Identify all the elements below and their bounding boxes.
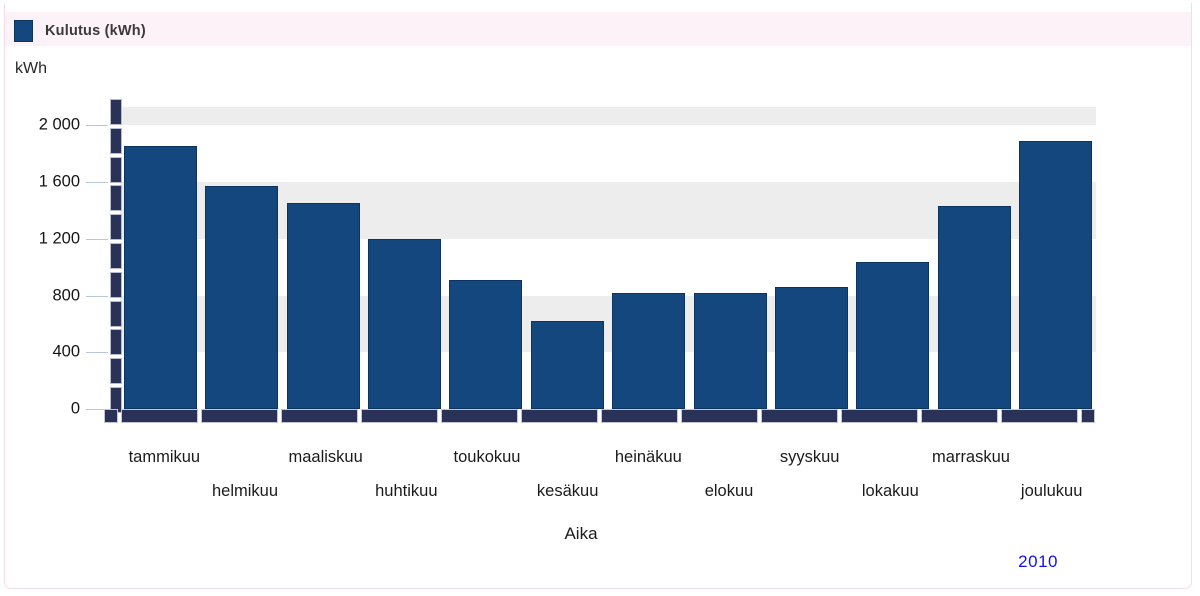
x-axis-segment: [681, 409, 758, 423]
x-axis-segment: [841, 409, 918, 423]
x-axis-label-elokuu: elokuu: [705, 482, 754, 501]
bar-huhtikuu[interactable]: [368, 239, 441, 409]
x-axis-segment: [1001, 409, 1078, 423]
bar-tammikuu[interactable]: [124, 146, 197, 409]
bar-slot[interactable]: [1019, 107, 1092, 409]
x-axis-label-helmikuu: helmikuu: [212, 482, 278, 501]
bar-marraskuu[interactable]: [938, 206, 1011, 409]
bar-elokuu[interactable]: [694, 293, 767, 409]
bar-slot[interactable]: [205, 107, 278, 409]
x-axis-label-tammikuu: tammikuu: [129, 448, 201, 467]
y-axis-tick-label: 2 000: [0, 116, 80, 135]
bar-slot[interactable]: [124, 107, 197, 409]
bar-joulukuu[interactable]: [1019, 141, 1092, 409]
y-axis-segment: [110, 99, 122, 125]
y-axis-tick-label: 0: [0, 400, 80, 419]
bar-helmikuu[interactable]: [205, 186, 278, 409]
x-axis-segment: [361, 409, 438, 423]
x-axis-line: [104, 409, 1126, 423]
bar-slot[interactable]: [612, 107, 685, 409]
y-axis-segment: [110, 358, 122, 384]
x-axis-label-lokakuu: lokakuu: [862, 482, 919, 501]
bar-kesäkuu[interactable]: [531, 321, 604, 409]
bar-slot[interactable]: [856, 107, 929, 409]
y-axis-tick-mark: [86, 125, 108, 126]
bar-slot[interactable]: [938, 107, 1011, 409]
x-axis-label-syyskuu: syyskuu: [780, 448, 840, 467]
bar-slot[interactable]: [694, 107, 767, 409]
bar-maaliskuu[interactable]: [287, 203, 360, 409]
x-axis-title-text: Aika: [564, 524, 597, 543]
y-axis-segment: [110, 272, 122, 298]
bar-slot[interactable]: [449, 107, 522, 409]
x-axis-segment: [521, 409, 598, 423]
bar-toukokuu[interactable]: [449, 280, 522, 409]
bar-series: [120, 107, 1096, 409]
y-axis-tick-label: 400: [0, 343, 80, 362]
bar-syyskuu[interactable]: [775, 287, 848, 409]
y-axis-segment: [110, 214, 122, 240]
y-axis-tick-mark: [86, 296, 108, 297]
y-axis-tick-mark: [86, 182, 108, 183]
plot-area: [120, 107, 1096, 409]
y-axis-tick-label: 1 600: [0, 173, 80, 192]
y-axis-tick-labels: 04008001 2001 6002 000: [0, 0, 80, 586]
y-axis-tick-label: 800: [0, 286, 80, 305]
bar-slot[interactable]: [287, 107, 360, 409]
bar-heinäkuu[interactable]: [612, 293, 685, 409]
x-axis-label-heinäkuu: heinäkuu: [615, 448, 682, 467]
x-axis-label-kesäkuu: kesäkuu: [537, 482, 598, 501]
year-stamp: 2010: [1018, 552, 1058, 572]
bar-slot[interactable]: [368, 107, 441, 409]
x-axis-label-huhtikuu: huhtikuu: [375, 482, 437, 501]
y-axis-tick-mark: [86, 239, 108, 240]
x-axis-segment: [201, 409, 278, 423]
x-axis-segment: [441, 409, 518, 423]
x-axis-label-toukokuu: toukokuu: [454, 448, 521, 467]
y-axis-line: [110, 99, 122, 413]
y-axis-segment: [110, 301, 122, 327]
y-axis-segment: [110, 157, 122, 183]
x-axis-label-marraskuu: marraskuu: [932, 448, 1010, 467]
x-axis-segment: [601, 409, 678, 423]
y-axis-tick-mark: [86, 409, 108, 410]
x-axis-segment: [921, 409, 998, 423]
x-axis-label-joulukuu: joulukuu: [1021, 482, 1082, 501]
x-axis-segment: [121, 409, 198, 423]
y-axis-segment: [110, 185, 122, 211]
x-axis-segment: [104, 409, 118, 423]
y-axis-segment: [110, 329, 122, 355]
x-axis-segment: [281, 409, 358, 423]
x-axis-segment: [761, 409, 838, 423]
y-axis-tick-label: 1 200: [0, 229, 80, 248]
y-axis-tick-mark: [86, 352, 108, 353]
bar-lokakuu[interactable]: [856, 262, 929, 409]
y-axis-segment: [110, 243, 122, 269]
x-axis-segment: [1081, 409, 1095, 423]
x-axis-label-maaliskuu: maaliskuu: [289, 448, 363, 467]
bar-slot[interactable]: [775, 107, 848, 409]
bar-slot[interactable]: [531, 107, 604, 409]
x-axis-title: Aika: [0, 524, 1188, 544]
bar-chart: 04008001 2001 6002 000 tammikuuhelmikuum…: [0, 0, 1188, 586]
x-axis-category-labels: tammikuuhelmikuumaaliskuuhuhtikuutoukoku…: [120, 448, 1096, 518]
y-axis-segment: [110, 128, 122, 154]
